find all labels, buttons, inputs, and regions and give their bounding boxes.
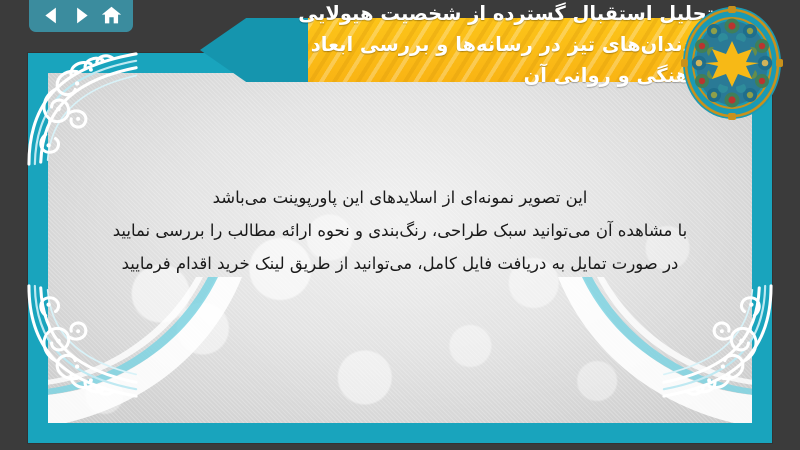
forward-icon[interactable] bbox=[71, 5, 92, 26]
slide-body-text: این تصویر نمونه‌ای از اسلایدهای این پاور… bbox=[28, 181, 772, 280]
body-line-1: این تصویر نمونه‌ای از اسلایدهای این پاور… bbox=[68, 181, 732, 214]
title-line-2: با دندان‌های تیز در رسانه‌ها و بررسی ابع… bbox=[234, 29, 714, 60]
corner-sweep-bottom-right bbox=[504, 277, 752, 423]
corner-sweep-bottom-left bbox=[48, 277, 296, 423]
body-line-2: با مشاهده آن می‌توانید سبک طراحی، رنگ‌بن… bbox=[68, 214, 732, 247]
persian-medallion-ornament bbox=[680, 4, 784, 122]
body-line-3: در صورت تمایل به دریافت فایل کامل، می‌تو… bbox=[68, 247, 732, 280]
slide-title: تحلیل استقبال گسترده از شخصیت هیولایی با… bbox=[234, 0, 714, 91]
home-icon[interactable] bbox=[101, 5, 122, 26]
slide-frame: این تصویر نمونه‌ای از اسلایدهای این پاور… bbox=[28, 53, 772, 443]
title-line-3: فرهنگی و روانی آن bbox=[234, 60, 714, 91]
back-icon[interactable] bbox=[41, 5, 62, 26]
title-line-1: تحلیل استقبال گسترده از شخصیت هیولایی bbox=[234, 0, 714, 29]
navigation-bar bbox=[29, 0, 133, 32]
